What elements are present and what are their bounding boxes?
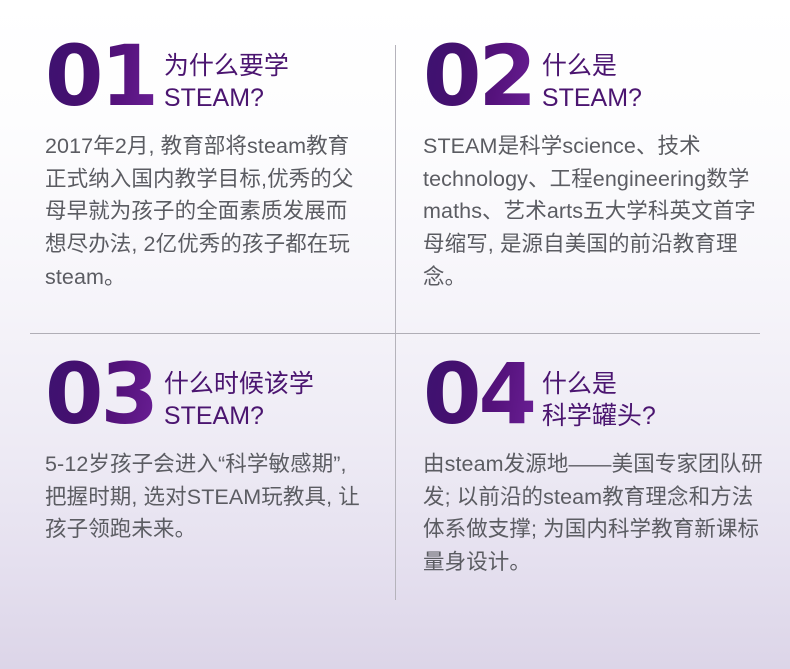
panel-01-subtitle-line2: STEAM? (164, 82, 367, 114)
panel-04: 04 什么是 科学罐头? 由steam发源地——美国专家团队研发; 以前沿的st… (395, 334, 790, 669)
panel-04-number: 04 (423, 358, 534, 432)
panel-01-heading: 01 为什么要学 STEAM? (45, 40, 367, 114)
panel-02-heading: 02 什么是 STEAM? (423, 40, 766, 114)
panel-02-subtitle-line2: STEAM? (542, 82, 766, 114)
panel-01-subtitle: 为什么要学 STEAM? (156, 40, 367, 114)
panel-03-subtitle: 什么时候该学 STEAM? (156, 358, 367, 432)
panel-01-number: 01 (45, 40, 156, 114)
panel-04-heading: 04 什么是 科学罐头? (423, 358, 766, 432)
panel-01-body: 2017年2月, 教育部将steam教育正式纳入国内教学目标,优秀的父母早就为孩… (45, 130, 367, 293)
panel-01-subtitle-line1: 为什么要学 (164, 50, 367, 82)
panel-04-subtitle-line1: 什么是 (542, 368, 766, 400)
panel-03: 03 什么时候该学 STEAM? 5-12岁孩子会进入“科学敏感期”, 把握时期… (0, 334, 395, 669)
panel-03-subtitle-line2: STEAM? (164, 400, 367, 432)
panel-03-body: 5-12岁孩子会进入“科学敏感期”, 把握时期, 选对STEAM玩教具, 让孩子… (45, 448, 367, 546)
panel-03-heading: 03 什么时候该学 STEAM? (45, 358, 367, 432)
panel-grid: 01 为什么要学 STEAM? 2017年2月, 教育部将steam教育正式纳入… (0, 0, 790, 669)
panel-02-subtitle: 什么是 STEAM? (534, 40, 766, 114)
panel-04-body: 由steam发源地——美国专家团队研发; 以前沿的steam教育理念和方法体系做… (423, 448, 763, 579)
panel-01: 01 为什么要学 STEAM? 2017年2月, 教育部将steam教育正式纳入… (0, 0, 395, 334)
panel-02-subtitle-line1: 什么是 (542, 50, 766, 82)
panel-02: 02 什么是 STEAM? STEAM是科学science、技术technolo… (395, 0, 790, 334)
infographic-board: 01 为什么要学 STEAM? 2017年2月, 教育部将steam教育正式纳入… (0, 0, 790, 669)
panel-02-number: 02 (423, 40, 534, 114)
panel-04-subtitle-line2: 科学罐头? (542, 400, 766, 432)
panel-03-number: 03 (45, 358, 156, 432)
panel-02-body: STEAM是科学science、技术technology、工程engineeri… (423, 130, 763, 293)
panel-04-subtitle: 什么是 科学罐头? (534, 358, 766, 432)
panel-03-subtitle-line1: 什么时候该学 (164, 368, 367, 400)
